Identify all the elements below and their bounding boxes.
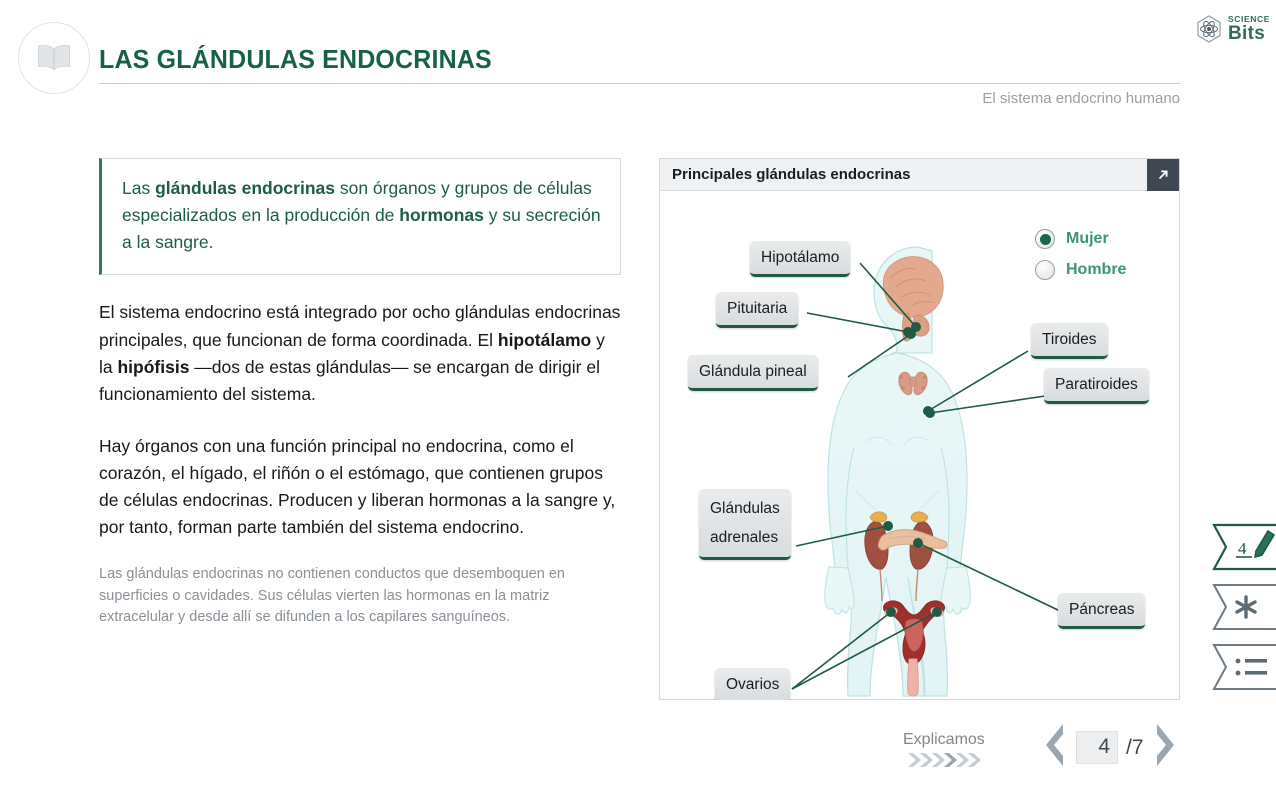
paragraph-1: El sistema endocrino está integrado por … bbox=[99, 299, 621, 408]
page-navigation: 4 /7 bbox=[1040, 722, 1180, 773]
text-column: Las glándulas endocrinas son órganos y g… bbox=[99, 158, 621, 629]
gland-label-tiroides[interactable]: Tiroides bbox=[1031, 323, 1108, 359]
tool-tabs: 4 bbox=[1204, 521, 1276, 701]
chevron-right-icon[interactable] bbox=[1152, 722, 1180, 773]
gland-label-adrenales-line1: Glándulas bbox=[710, 500, 780, 517]
tool-tab-notes[interactable]: 4 bbox=[1204, 521, 1276, 573]
gland-label-adrenales[interactable]: Glándulas adrenales bbox=[699, 489, 791, 560]
definition-text-1: Las bbox=[122, 178, 155, 198]
illustration-panel: Principales glándulas endocrinas bbox=[659, 158, 1180, 700]
sex-radio-group: Mujer Hombre bbox=[1035, 229, 1126, 291]
panel-header: Principales glándulas endocrinas bbox=[660, 159, 1179, 191]
gland-label-pancreas[interactable]: Páncreas bbox=[1058, 593, 1145, 629]
gland-label-pituitaria[interactable]: Pituitaria bbox=[716, 292, 798, 328]
definition-bold-1: glándulas endocrinas bbox=[155, 178, 335, 198]
paragraph-1-bold-2: hipófisis bbox=[117, 357, 189, 377]
chevron-left-icon[interactable] bbox=[1040, 722, 1068, 773]
gland-label-paratiroides[interactable]: Paratiroides bbox=[1044, 368, 1149, 404]
page-title: LAS GLÁNDULAS ENDOCRINAS bbox=[99, 44, 492, 75]
expand-arrow-icon[interactable] bbox=[1147, 159, 1179, 191]
progress-chevrons bbox=[908, 752, 984, 768]
paragraph-1-bold-1: hipotálamo bbox=[498, 330, 591, 350]
atom-hexagon-icon bbox=[1194, 14, 1224, 44]
progress-chevron-active bbox=[944, 753, 957, 767]
paragraph-2: Hay órganos con una función principal no… bbox=[99, 433, 621, 542]
page-number-input[interactable]: 4 bbox=[1076, 731, 1118, 764]
lesson-page: LAS GLÁNDULAS ENDOCRINAS El sistema endo… bbox=[0, 0, 1276, 799]
title-divider bbox=[99, 83, 1180, 84]
gland-label-adrenales-line2: adrenales bbox=[710, 529, 778, 546]
science-bits-logo: SCIENCE Bits bbox=[1194, 14, 1270, 44]
gland-label-ovarios[interactable]: Ovarios bbox=[715, 668, 790, 700]
note-paragraph: Las glándulas endocrinas no contienen co… bbox=[99, 564, 621, 629]
radio-label-hombre: Hombre bbox=[1066, 261, 1126, 279]
page-subtitle: El sistema endocrino humano bbox=[982, 90, 1180, 107]
tool-tab-index[interactable] bbox=[1204, 641, 1276, 693]
logo-science-text: SCIENCE bbox=[1228, 15, 1270, 24]
definition-callout: Las glándulas endocrinas son órganos y g… bbox=[99, 158, 621, 275]
radio-option-hombre[interactable]: Hombre bbox=[1035, 260, 1126, 280]
radio-dot-selected-icon[interactable] bbox=[1035, 229, 1055, 249]
gland-label-pineal[interactable]: Glándula pineal bbox=[688, 355, 818, 391]
panel-body: Hipotálamo Pituitaria Glándula pineal Ti… bbox=[660, 191, 1179, 700]
panel-title: Principales glándulas endocrinas bbox=[672, 166, 910, 183]
page-total: /7 bbox=[1126, 736, 1144, 760]
definition-bold-2: hormonas bbox=[399, 205, 484, 225]
radio-option-mujer[interactable]: Mujer bbox=[1035, 229, 1126, 249]
tool-tab-highlights[interactable] bbox=[1204, 581, 1276, 633]
gland-label-hipotalamo[interactable]: Hipotálamo bbox=[750, 241, 850, 277]
logo-bits-text: Bits bbox=[1228, 24, 1270, 43]
open-book-icon bbox=[18, 22, 90, 94]
radio-dot-unselected-icon[interactable] bbox=[1035, 260, 1055, 280]
tool-tab-notes-badge: 4 bbox=[1238, 539, 1247, 558]
radio-label-mujer: Mujer bbox=[1066, 230, 1109, 248]
section-label: Explicamos bbox=[903, 731, 985, 749]
